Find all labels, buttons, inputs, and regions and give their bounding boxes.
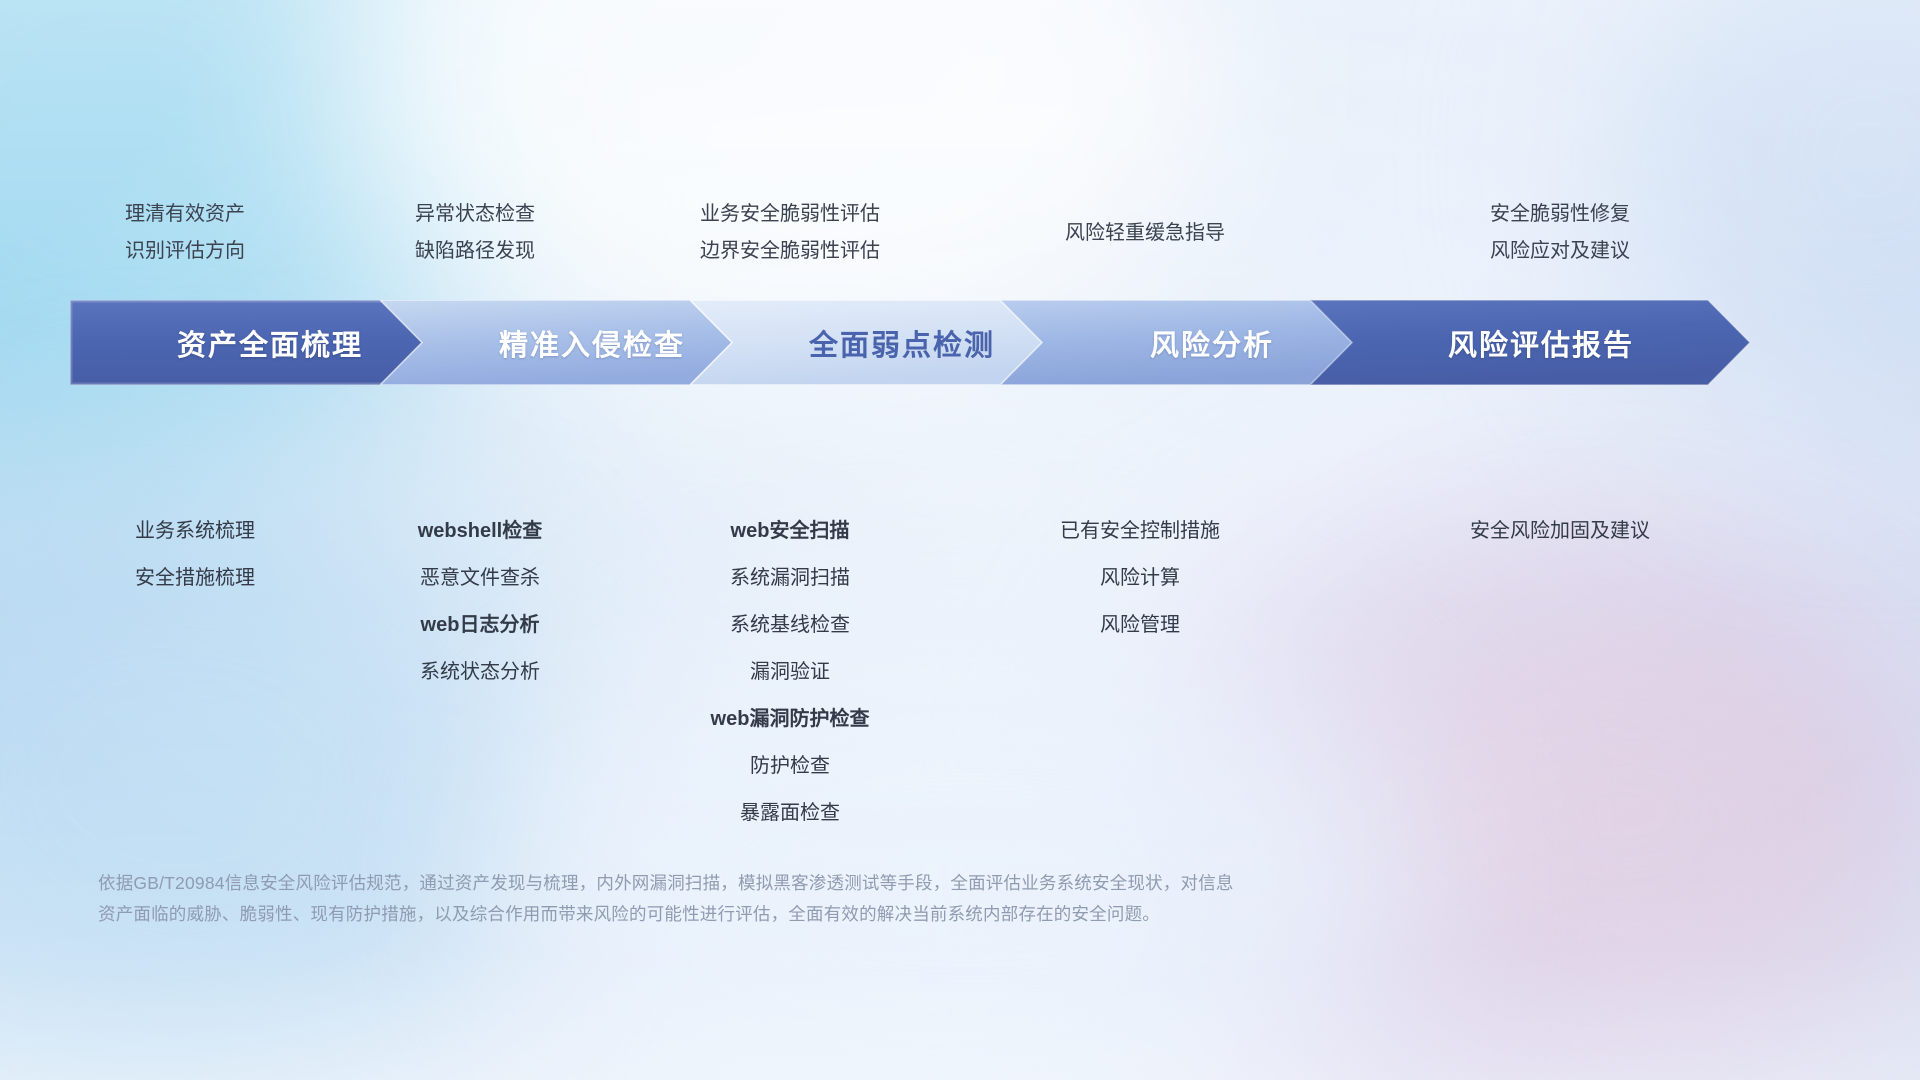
stage-top-labels-1: 理清有效资产 识别评估方向	[55, 196, 315, 270]
stage-detail-list-5: 安全风险加固及建议	[1420, 508, 1700, 555]
footer-line-2: 资产面临的威胁、脆弱性、现有防护措施，以及综合作用而带来风险的可能性进行评估，全…	[98, 899, 1628, 930]
stage-detail-item: 系统漏洞扫描	[650, 555, 930, 602]
stage-top-label: 风险轻重缓急指导	[1015, 215, 1275, 252]
stage-detail-item: 已有安全控制措施	[1000, 508, 1280, 555]
stage-top-labels-4: 风险轻重缓急指导	[1015, 215, 1275, 252]
stage-detail-item: web安全扫描	[650, 508, 930, 555]
footer-line-1: 依据GB/T20984信息安全风险评估规范，通过资产发现与梳理，内外网漏洞扫描，…	[98, 868, 1628, 899]
stage-top-labels-2: 异常状态检查 缺陷路径发现	[345, 196, 605, 270]
stage-label: 资产全面梳理	[177, 322, 363, 364]
stage-detail-item: 漏洞验证	[650, 649, 930, 696]
stage-top-label: 异常状态检查	[345, 196, 605, 233]
stage-detail-item: web漏洞防护检查	[650, 696, 930, 743]
stage-detail-list-3: web安全扫描 系统漏洞扫描 系统基线检查 漏洞验证 web漏洞防护检查 防护检…	[650, 508, 930, 837]
stage-detail-item: 恶意文件查杀	[340, 555, 620, 602]
stage-chevron-5[interactable]: 风险评估报告	[1310, 300, 1750, 385]
stage-detail-list-4: 已有安全控制措施 风险计算 风险管理	[1000, 508, 1280, 649]
stage-detail-item: web日志分析	[340, 602, 620, 649]
stage-detail-item: 安全风险加固及建议	[1420, 508, 1700, 555]
stage-detail-item: 系统状态分析	[340, 649, 620, 696]
stage-top-label: 业务安全脆弱性评估	[640, 196, 940, 233]
stage-detail-item: 业务系统梳理	[55, 508, 335, 555]
stage-label: 风险分析	[1126, 322, 1274, 364]
stage-detail-item: 暴露面检查	[650, 790, 930, 837]
stage-top-labels-3: 业务安全脆弱性评估 边界安全脆弱性评估	[640, 196, 940, 270]
stage-top-labels-5: 安全脆弱性修复 风险应对及建议	[1430, 196, 1690, 270]
stage-detail-item: 安全措施梳理	[55, 555, 335, 602]
stage-top-label: 缺陷路径发现	[345, 233, 605, 270]
footer-description: 依据GB/T20984信息安全风险评估规范，通过资产发现与梳理，内外网漏洞扫描，…	[98, 868, 1628, 930]
stage-detail-item: 系统基线检查	[650, 602, 930, 649]
stage-top-label: 安全脆弱性修复	[1430, 196, 1690, 233]
stage-detail-item: 风险计算	[1000, 555, 1280, 602]
stage-top-label: 识别评估方向	[55, 233, 315, 270]
stage-label: 精准入侵检查	[475, 322, 685, 364]
stage-detail-list-2: webshell检查 恶意文件查杀 web日志分析 系统状态分析	[340, 508, 620, 696]
stage-detail-item: 防护检查	[650, 743, 930, 790]
stage-detail-list-1: 业务系统梳理 安全措施梳理	[55, 508, 335, 602]
process-stage-band: 资产全面梳理 精准入侵检查	[70, 300, 1850, 385]
stage-top-label: 理清有效资产	[55, 196, 315, 233]
stage-label: 风险评估报告	[1426, 322, 1634, 364]
stage-detail-item: webshell检查	[340, 508, 620, 555]
stage-detail-item: 风险管理	[1000, 602, 1280, 649]
stage-top-label: 边界安全脆弱性评估	[640, 233, 940, 270]
stage-label: 全面弱点检测	[785, 322, 995, 364]
stage-top-label: 风险应对及建议	[1430, 233, 1690, 270]
